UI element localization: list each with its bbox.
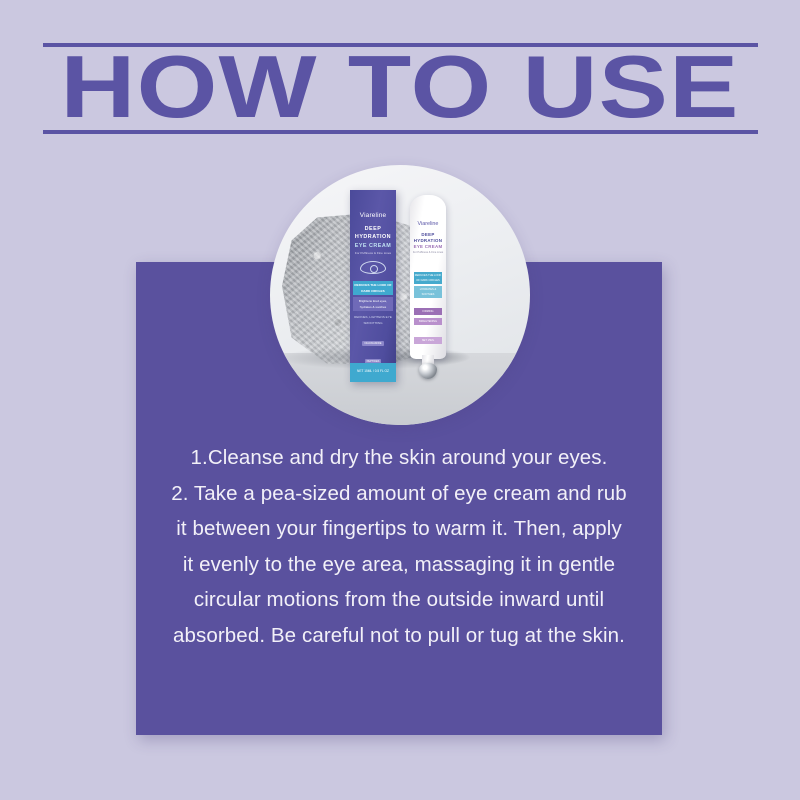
product-carton: Viareline DEEP HYDRATION EYE CREAM For P… <box>350 190 396 382</box>
product-photo: Viareline DEEP HYDRATION EYE CREAM For P… <box>270 165 530 425</box>
tube-brand: Viareline <box>410 221 446 227</box>
tube-line1: DEEP <box>410 232 446 237</box>
instruction-line: absorbed. Be careful not to pull or tug … <box>136 618 662 654</box>
carton-band-2: Brightens tired eyes, hydrates & soothes <box>353 297 393 311</box>
eye-icon <box>360 261 386 274</box>
carton-subtitle: For Puffiness & Fine Lines <box>350 251 396 255</box>
carton-chip: NIACINAMIDE <box>362 341 383 346</box>
instruction-line: 2. Take a pea-sized amount of eye cream … <box>136 476 662 512</box>
instruction-line: it evenly to the eye area, massaging it … <box>136 547 662 583</box>
tube-body: Viareline DEEP HYDRATION EYE CREAM For P… <box>410 195 446 359</box>
carton-line3: EYE CREAM <box>350 243 396 249</box>
tube-line2: HYDRATION <box>410 238 446 243</box>
tube-subtitle: For Puffiness & Fine Lines <box>410 251 446 254</box>
tube-line3: EYE CREAM <box>410 244 446 249</box>
header-divider-bottom <box>43 130 758 134</box>
carton-band-1: REDUCES THE LOOK OF DARK CIRCLES <box>353 281 393 295</box>
carton-brand: Viareline <box>350 212 396 219</box>
tube-band-2: HYDRATES & SOOTHES <box>414 286 442 298</box>
tube-band-5: NET 15ML <box>414 337 442 344</box>
carton-line1: DEEP <box>350 226 396 232</box>
instruction-line: 1.Cleanse and dry the skin around your e… <box>136 440 662 476</box>
carton-band-3: REFINES, LIGHTENS EYE SMOOTHING <box>353 313 393 327</box>
carton-footer: NET 15ML / 0.5 FL OZ <box>350 363 396 382</box>
page-title: HOW TO USE <box>0 47 800 127</box>
tube-band-4: BRIGHTENING <box>414 318 442 325</box>
carton-line2: HYDRATION <box>350 234 396 240</box>
tube-band-3: FIRMING <box>414 308 442 315</box>
tube-band-1: REDUCES THE LOOK OF DARK CIRCLES <box>414 272 442 284</box>
instruction-line: it between your fingertips to warm it. T… <box>136 511 662 547</box>
product-tube: Viareline DEEP HYDRATION EYE CREAM For P… <box>410 195 446 375</box>
instruction-line: circular motions from the outside inward… <box>136 582 662 618</box>
instructions-block: 1.Cleanse and dry the skin around your e… <box>136 440 662 653</box>
header: HOW TO USE <box>0 0 800 150</box>
